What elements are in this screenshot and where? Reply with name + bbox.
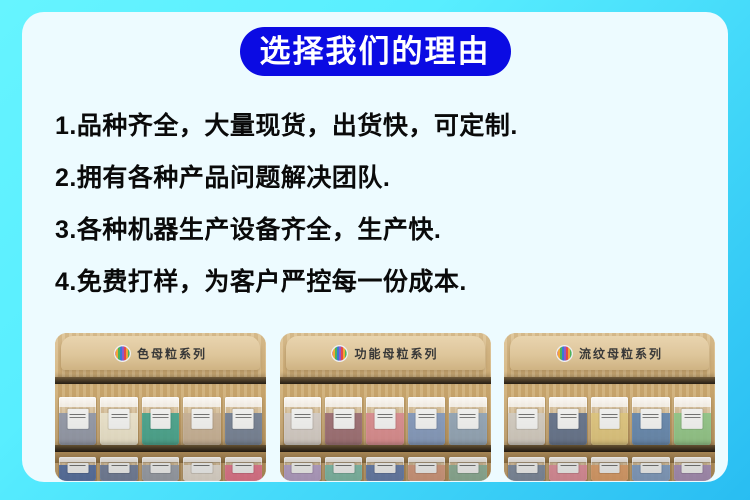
shelf-series-label: 功能母粒系列 xyxy=(354,345,438,362)
jar-lid xyxy=(449,397,486,407)
pellet-jar xyxy=(366,397,403,445)
pellet-jar xyxy=(674,397,711,445)
jar-lid xyxy=(549,397,586,407)
jar-label xyxy=(67,463,88,473)
jar-label xyxy=(558,463,579,473)
jar-row-lower xyxy=(59,457,262,481)
jar-lid xyxy=(100,397,137,407)
pellet-jar xyxy=(183,457,220,481)
jar-lid xyxy=(366,397,403,407)
jar-lid xyxy=(408,457,445,462)
pellet-jar xyxy=(183,397,220,445)
jar-label xyxy=(292,409,313,429)
jar-lid xyxy=(591,397,628,407)
jar-label xyxy=(599,409,620,429)
pellet-jar xyxy=(591,397,628,445)
shelf-ledge xyxy=(504,377,715,384)
list-item: 3.各种机器生产设备齐全，生产快. xyxy=(55,204,715,256)
pellet-jar xyxy=(408,397,445,445)
jar-label xyxy=(333,409,354,429)
jar-row-lower xyxy=(284,457,487,481)
product-photo-2: 功能母粒系列 xyxy=(280,333,491,481)
jar-lid xyxy=(508,457,545,462)
jar-row-upper xyxy=(508,397,711,445)
pellet-jar xyxy=(225,457,262,481)
jar-lid xyxy=(632,397,669,407)
jar-lid xyxy=(284,457,321,462)
pellet-jar xyxy=(508,457,545,481)
jar-lid xyxy=(183,457,220,462)
pellet-jar xyxy=(142,397,179,445)
pellet-jar xyxy=(325,457,362,481)
jar-lid xyxy=(591,457,628,462)
rainbow-circle-logo-icon xyxy=(331,345,348,362)
jar-label xyxy=(599,463,620,473)
jar-lid xyxy=(366,457,403,462)
jar-row-lower xyxy=(508,457,711,481)
rainbow-circle-logo-icon xyxy=(114,345,131,362)
jar-label xyxy=(416,409,437,429)
rainbow-circle-logo-icon xyxy=(556,345,573,362)
pellet-jar xyxy=(408,457,445,481)
pellet-jar xyxy=(100,457,137,481)
jar-label xyxy=(109,463,130,473)
jar-label xyxy=(457,463,478,473)
pellet-jar xyxy=(632,457,669,481)
jar-lid xyxy=(142,397,179,407)
shelf-header-board: 功能母粒系列 xyxy=(286,336,485,370)
pellet-jar xyxy=(549,457,586,481)
shelf-header-board: 色母粒系列 xyxy=(61,336,260,370)
pellet-jar xyxy=(449,457,486,481)
pellet-jar xyxy=(142,457,179,481)
jar-label xyxy=(333,463,354,473)
jar-label xyxy=(191,463,212,473)
jar-lid xyxy=(449,457,486,462)
jar-label xyxy=(516,463,537,473)
jar-label xyxy=(109,409,130,429)
jar-lid xyxy=(549,457,586,462)
shelf-ledge xyxy=(280,445,491,452)
pellet-jar xyxy=(59,457,96,481)
jar-lid xyxy=(632,457,669,462)
jar-label xyxy=(682,463,703,473)
product-photo-1: 色母粒系列 xyxy=(55,333,266,481)
jar-lid xyxy=(59,397,96,407)
shelf-series-label: 色母粒系列 xyxy=(137,345,207,362)
title-banner: 选择我们的理由 xyxy=(22,27,728,76)
product-photo-row: 色母粒系列 功能母粒系列 xyxy=(55,333,715,481)
product-photo-3: 流纹母粒系列 xyxy=(504,333,715,481)
list-item: 4.免费打样，为客户严控每一份成本. xyxy=(55,256,715,308)
jar-lid xyxy=(100,457,137,462)
jar-label xyxy=(67,409,88,429)
pellet-jar xyxy=(59,397,96,445)
list-item: 1.品种齐全，大量现货，出货快，可定制. xyxy=(55,100,715,152)
jar-lid xyxy=(674,397,711,407)
jar-label xyxy=(682,409,703,429)
jar-lid xyxy=(59,457,96,462)
jar-label xyxy=(516,409,537,429)
jar-lid xyxy=(325,457,362,462)
jar-label xyxy=(640,409,661,429)
pellet-jar xyxy=(632,397,669,445)
shelf-series-label: 流纹母粒系列 xyxy=(579,345,663,362)
pellet-jar xyxy=(366,457,403,481)
pellet-jar xyxy=(225,397,262,445)
shelf-ledge xyxy=(55,377,266,384)
shelf-ledge xyxy=(504,445,715,452)
jar-label xyxy=(416,463,437,473)
content-panel: 选择我们的理由 1.品种齐全，大量现货，出货快，可定制. 2.拥有各种产品问题解… xyxy=(22,12,728,482)
title-pill: 选择我们的理由 xyxy=(240,27,511,76)
jar-lid xyxy=(325,397,362,407)
shelf-ledge xyxy=(280,377,491,384)
jar-lid xyxy=(183,397,220,407)
jar-lid xyxy=(225,457,262,462)
jar-lid xyxy=(225,397,262,407)
jar-label xyxy=(233,409,254,429)
pellet-jar xyxy=(508,397,545,445)
poster-canvas: 选择我们的理由 1.品种齐全，大量现货，出货快，可定制. 2.拥有各种产品问题解… xyxy=(0,0,750,500)
shelf-header-board: 流纹母粒系列 xyxy=(510,336,709,370)
pellet-jar xyxy=(591,457,628,481)
list-item: 2.拥有各种产品问题解决团队. xyxy=(55,152,715,204)
jar-label xyxy=(457,409,478,429)
jar-label xyxy=(640,463,661,473)
jar-label xyxy=(191,409,212,429)
pellet-jar xyxy=(674,457,711,481)
jar-label xyxy=(150,463,171,473)
reasons-list: 1.品种齐全，大量现货，出货快，可定制. 2.拥有各种产品问题解决团队. 3.各… xyxy=(55,100,715,308)
jar-label xyxy=(292,463,313,473)
pellet-jar xyxy=(100,397,137,445)
page-title: 选择我们的理由 xyxy=(260,34,491,69)
jar-label xyxy=(150,409,171,429)
jar-label xyxy=(558,409,579,429)
pellet-jar xyxy=(284,397,321,445)
jar-lid xyxy=(284,397,321,407)
pellet-jar xyxy=(284,457,321,481)
jar-label xyxy=(233,463,254,473)
pellet-jar xyxy=(449,397,486,445)
jar-lid xyxy=(674,457,711,462)
pellet-jar xyxy=(325,397,362,445)
jar-row-upper xyxy=(284,397,487,445)
jar-label xyxy=(375,463,396,473)
jar-lid xyxy=(408,397,445,407)
jar-lid xyxy=(508,397,545,407)
jar-row-upper xyxy=(59,397,262,445)
pellet-jar xyxy=(549,397,586,445)
jar-lid xyxy=(142,457,179,462)
jar-label xyxy=(375,409,396,429)
shelf-ledge xyxy=(55,445,266,452)
